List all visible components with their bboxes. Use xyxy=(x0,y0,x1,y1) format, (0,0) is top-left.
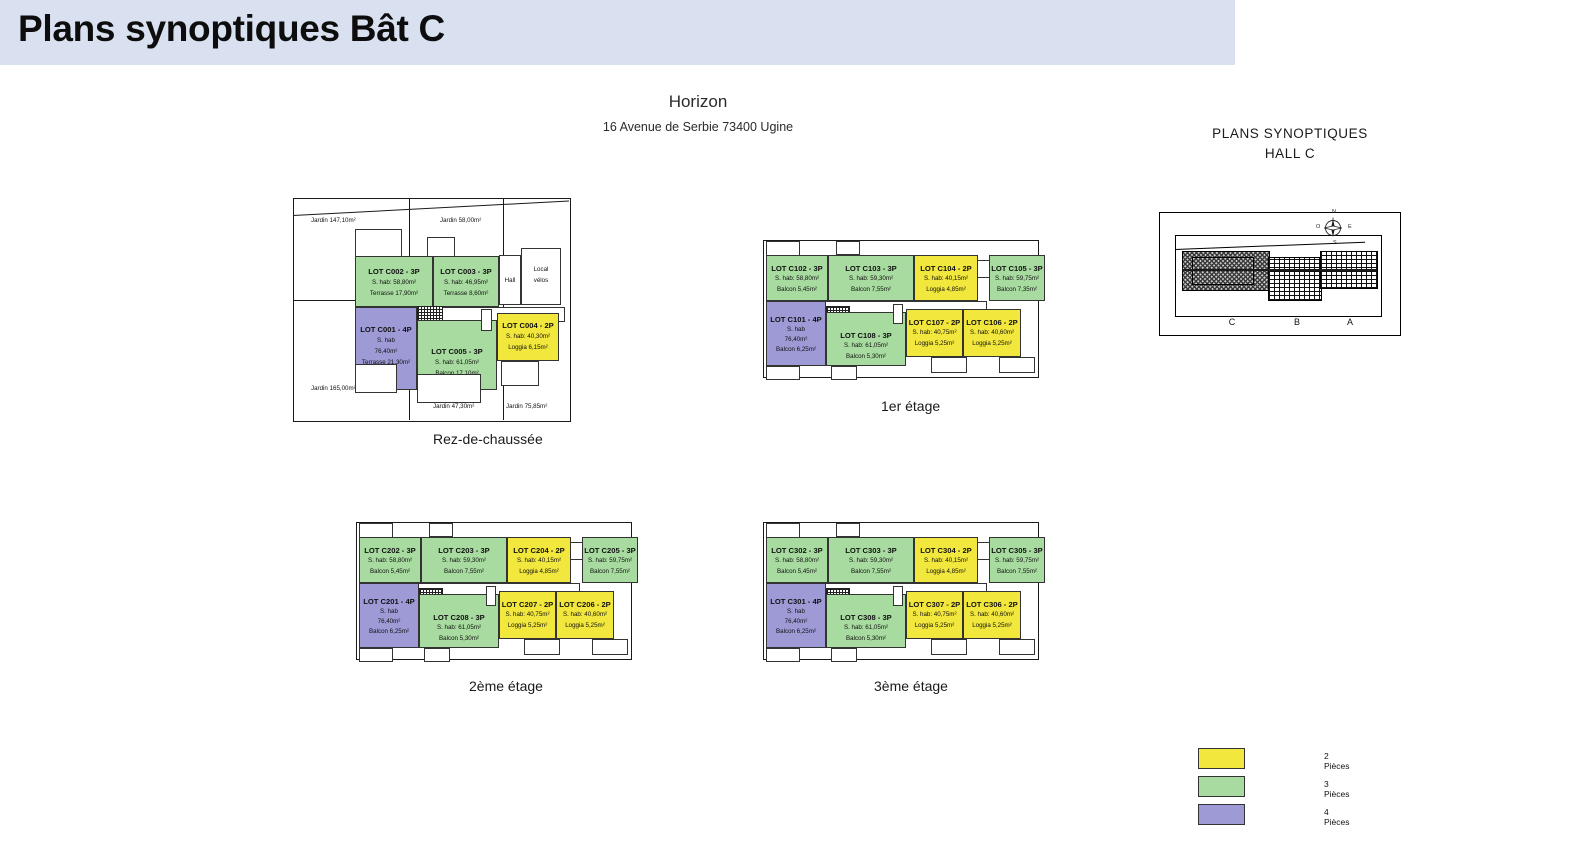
lot-c305-line1: S. hab: 59,75m² xyxy=(990,557,1044,566)
page-title: Plans synoptiques Bât C xyxy=(18,8,445,50)
lot-c004-title: LOT C004 - 2P xyxy=(498,320,558,331)
lot-c206-line1: S. hab: 40,60m² xyxy=(557,611,613,620)
lot-c302[interactable]: LOT C302 - 3P S. hab: 58,80m² Balcon 5,4… xyxy=(766,537,828,583)
lot-c307-line2: Loggia 5,25m² xyxy=(907,622,962,631)
site-key-plan: C B A N E S O xyxy=(1159,212,1401,336)
lot-c003-line1: S. hab: 46,95m² xyxy=(434,279,498,288)
lot-c004-line1: S. hab: 40,30m² xyxy=(498,333,558,342)
balcony-c103 xyxy=(836,241,860,255)
shaft-first xyxy=(893,304,903,324)
balcony-c308-lower xyxy=(831,648,857,662)
lot-c105-line1: S. hab: 59,75m² xyxy=(990,275,1044,284)
lot-c202-line2: Balcon 5,45m² xyxy=(360,568,420,577)
lot-c206-line2: Loggia 5,25m² xyxy=(557,622,613,631)
lot-c202-title: LOT C202 - 3P xyxy=(360,545,420,556)
lot-c201-line3: Balcon 6,25m² xyxy=(360,628,418,637)
site-block-b xyxy=(1268,257,1322,301)
lot-c308-line2: Balcon 5,30m² xyxy=(827,635,905,644)
lot-c207[interactable]: LOT C207 - 2P S. hab: 40,75m² Loggia 5,2… xyxy=(499,591,556,639)
lot-c105[interactable]: LOT C105 - 3P S. hab: 59,75m² Balcon 7,3… xyxy=(989,255,1045,301)
lot-c107[interactable]: LOT C107 - 2P S. hab: 40,75m² Loggia 5,2… xyxy=(906,309,963,357)
terrace-box-c001 xyxy=(355,364,397,393)
balcony-c106-lower xyxy=(999,357,1035,373)
lot-c301-line1: S. hab xyxy=(767,608,825,617)
lot-c101-line2: 76,40m² xyxy=(767,336,825,345)
lot-c204[interactable]: LOT C204 - 2P S. hab: 40,15m² Loggia 4,8… xyxy=(507,537,571,583)
lot-c005-title: LOT C005 - 3P xyxy=(418,346,496,357)
lot-c004[interactable]: LOT C004 - 2P S. hab: 40,30m² Loggia 6,1… xyxy=(497,313,559,361)
lot-c207-line2: Loggia 5,25m² xyxy=(500,622,555,631)
lot-c203-line1: S. hab: 59,30m² xyxy=(422,557,506,566)
lot-c306-line1: S. hab: 40,60m² xyxy=(964,611,1020,620)
lot-c107-line2: Loggia 5,25m² xyxy=(907,340,962,349)
lot-c202-line1: S. hab: 58,80m² xyxy=(360,557,420,566)
lot-c106-line1: S. hab: 40,60m² xyxy=(964,329,1020,338)
lot-c103-line2: Balcon 7,55m² xyxy=(829,286,913,295)
garden-label-165: Jardin 165,00m² xyxy=(311,385,356,392)
lot-c304-line2: Loggia 4,85m² xyxy=(915,568,977,577)
site-label-b: B xyxy=(1282,317,1312,327)
balcony-c208-lower xyxy=(424,648,450,662)
lot-c103-line1: S. hab: 59,30m² xyxy=(829,275,913,284)
site-block-c-wing xyxy=(1192,257,1254,285)
lot-c308-line1: S. hab: 61,05m² xyxy=(827,624,905,633)
terrace-box-c004 xyxy=(501,361,539,386)
floor-caption-ground: Rez-de-chaussée xyxy=(433,431,543,447)
lot-c002[interactable]: LOT C002 - 3P S. hab: 58,80m² Terrasse 1… xyxy=(355,256,433,307)
room-hall[interactable]: Hall xyxy=(499,255,521,305)
lot-c208-line1: S. hab: 61,05m² xyxy=(420,624,498,633)
lot-c205-line2: Balcon 7,55m² xyxy=(583,568,637,577)
lot-c204-line2: Loggia 4,85m² xyxy=(508,568,570,577)
garden-label-75: Jardin 75,85m² xyxy=(506,403,547,410)
lot-c104[interactable]: LOT C104 - 2P S. hab: 40,15m² Loggia 4,8… xyxy=(914,255,978,301)
lot-c301[interactable]: LOT C301 - 4P S. hab 76,40m² Balcon 6,25… xyxy=(766,583,826,648)
compass-label-n: N xyxy=(1332,209,1336,215)
lot-c102-line2: Balcon 5,45m² xyxy=(767,286,827,295)
lot-c307[interactable]: LOT C307 - 2P S. hab: 40,75m² Loggia 5,2… xyxy=(906,591,963,639)
lot-c103[interactable]: LOT C103 - 3P S. hab: 59,30m² Balcon 7,5… xyxy=(828,255,914,301)
lot-c307-line1: S. hab: 40,75m² xyxy=(907,611,962,620)
lot-c303-title: LOT C303 - 3P xyxy=(829,545,913,556)
lot-c203[interactable]: LOT C203 - 3P S. hab: 59,30m² Balcon 7,5… xyxy=(421,537,507,583)
lot-c302-title: LOT C302 - 3P xyxy=(767,545,827,556)
balcony-c107-lower xyxy=(931,357,967,373)
legend-label-2p: 2 Pièces xyxy=(1324,751,1350,771)
lot-c104-line1: S. hab: 40,15m² xyxy=(915,275,977,284)
lot-c302-line2: Balcon 5,45m² xyxy=(767,568,827,577)
lot-c201-line1: S. hab xyxy=(360,608,418,617)
site-spine xyxy=(1182,269,1376,271)
lot-c206[interactable]: LOT C206 - 2P S. hab: 40,60m² Loggia 5,2… xyxy=(556,591,614,639)
lot-c201-line2: 76,40m² xyxy=(360,618,418,627)
lot-c301-title: LOT C301 - 4P xyxy=(767,596,825,607)
lot-c104-line2: Loggia 4,85m² xyxy=(915,286,977,295)
lot-c003[interactable]: LOT C003 - 3P S. hab: 46,95m² Terrasse 8… xyxy=(433,256,499,307)
lot-c108-line2: Balcon 5,30m² xyxy=(827,353,905,362)
balcony-c206-lower xyxy=(592,639,628,655)
balcony-c307-lower xyxy=(931,639,967,655)
lot-c005-line1: S. hab: 61,05m² xyxy=(418,359,496,368)
lot-c206-title: LOT C206 - 2P xyxy=(557,599,613,610)
lot-c205-title: LOT C205 - 3P xyxy=(583,545,637,556)
room-local-velos-label: Local xyxy=(522,266,560,275)
lot-c303-line1: S. hab: 59,30m² xyxy=(829,557,913,566)
shaft-second xyxy=(486,586,496,606)
lot-c304-line1: S. hab: 40,15m² xyxy=(915,557,977,566)
floor-caption-second: 2ème étage xyxy=(469,678,543,694)
lot-c307-title: LOT C307 - 2P xyxy=(907,599,962,610)
balcony-c101-lower xyxy=(766,366,800,380)
lot-c304[interactable]: LOT C304 - 2P S. hab: 40,15m² Loggia 4,8… xyxy=(914,537,978,583)
floor-plan-second: LOT C202 - 3P S. hab: 58,80m² Balcon 5,4… xyxy=(356,520,634,670)
lot-c203-line2: Balcon 7,55m² xyxy=(422,568,506,577)
floor-plan-ground: Jardin 147,10m² Jardin 58,00m² Jardin 16… xyxy=(293,193,573,421)
compass-label-s: S xyxy=(1333,240,1337,246)
site-key-title-line1: PLANS SYNOPTIQUES xyxy=(1190,124,1390,144)
lot-c102-line1: S. hab: 58,80m² xyxy=(767,275,827,284)
lot-c004-line2: Loggia 6,15m² xyxy=(498,344,558,353)
site-key-title: PLANS SYNOPTIQUES HALL C xyxy=(1190,124,1390,163)
lot-c106-line2: Loggia 5,25m² xyxy=(964,340,1020,349)
lot-c102[interactable]: LOT C102 - 3P S. hab: 58,80m² Balcon 5,4… xyxy=(766,255,828,301)
lot-c105-title: LOT C105 - 3P xyxy=(990,263,1044,274)
lot-c301-line3: Balcon 6,25m² xyxy=(767,628,825,637)
lot-c003-line2: Terrasse 8,60m² xyxy=(434,290,498,299)
lot-c204-title: LOT C204 - 2P xyxy=(508,545,570,556)
lot-c306-title: LOT C306 - 2P xyxy=(964,599,1020,610)
lot-c208-line2: Balcon 5,30m² xyxy=(420,635,498,644)
lot-c204-line1: S. hab: 40,15m² xyxy=(508,557,570,566)
lot-c301-line2: 76,40m² xyxy=(767,618,825,627)
lot-c108-title: LOT C108 - 3P xyxy=(827,330,905,341)
lot-c201-title: LOT C201 - 4P xyxy=(360,596,418,607)
legend-label-3p: 3 Pièces xyxy=(1324,779,1350,799)
balcony-c203 xyxy=(429,523,453,537)
lot-c107-title: LOT C107 - 2P xyxy=(907,317,962,328)
lot-c101-title: LOT C101 - 4P xyxy=(767,314,825,325)
balcony-c306-lower xyxy=(999,639,1035,655)
lot-c105-line2: Balcon 7,35m² xyxy=(990,286,1044,295)
legend-label-4p: 4 Pièces xyxy=(1324,807,1350,827)
legend-swatch-2p xyxy=(1198,748,1245,769)
lot-c002-line1: S. hab: 58,80m² xyxy=(356,279,432,288)
balcony-c201-lower xyxy=(359,648,393,662)
project-name: Horizon xyxy=(598,92,798,112)
floor-plan-third: LOT C302 - 3P S. hab: 58,80m² Balcon 5,4… xyxy=(763,520,1041,670)
floor-plan-first: LOT C102 - 3P S. hab: 58,80m² Balcon 5,4… xyxy=(763,238,1041,388)
legend-swatch-3p xyxy=(1198,776,1245,797)
compass-rose-icon xyxy=(1320,215,1346,241)
lot-c002-line2: Terrasse 17,90m² xyxy=(356,290,432,299)
parcel-divider-3 xyxy=(293,300,355,301)
site-key-title-line2: HALL C xyxy=(1190,144,1390,164)
lot-c107-line1: S. hab: 40,75m² xyxy=(907,329,962,338)
project-address: 16 Avenue de Serbie 73400 Ugine xyxy=(548,120,848,134)
garden-label-58: Jardin 58,00m² xyxy=(440,217,481,224)
lot-c101-line1: S. hab xyxy=(767,326,825,335)
terrace-box-c002 xyxy=(355,229,402,259)
lot-c202[interactable]: LOT C202 - 3P S. hab: 58,80m² Balcon 5,4… xyxy=(359,537,421,583)
room-hall-label: Hall xyxy=(500,277,520,286)
balcony-c303 xyxy=(836,523,860,537)
lot-c205-line1: S. hab: 59,75m² xyxy=(583,557,637,566)
lot-c306[interactable]: LOT C306 - 2P S. hab: 40,60m² Loggia 5,2… xyxy=(963,591,1021,639)
lot-c001-title: LOT C001 - 4P xyxy=(356,324,416,335)
lot-c303-line2: Balcon 7,55m² xyxy=(829,568,913,577)
site-label-c: C xyxy=(1217,317,1247,327)
lot-c304-title: LOT C304 - 2P xyxy=(915,545,977,556)
lot-c103-title: LOT C103 - 3P xyxy=(829,263,913,274)
balcony-c207-lower xyxy=(524,639,560,655)
lot-c305[interactable]: LOT C305 - 3P S. hab: 59,75m² Balcon 7,5… xyxy=(989,537,1045,583)
lot-c108-line1: S. hab: 61,05m² xyxy=(827,342,905,351)
lot-c205[interactable]: LOT C205 - 3P S. hab: 59,75m² Balcon 7,5… xyxy=(582,537,638,583)
garden-label-47: Jardin 47,30m² xyxy=(433,403,474,410)
balcony-c108-lower xyxy=(831,366,857,380)
lot-c305-title: LOT C305 - 3P xyxy=(990,545,1044,556)
lot-c305-line2: Balcon 7,55m² xyxy=(990,568,1044,577)
floor-caption-first: 1er étage xyxy=(881,398,940,414)
lot-c001-line1: S. hab xyxy=(356,337,416,346)
site-label-a: A xyxy=(1335,317,1365,327)
lot-c106[interactable]: LOT C106 - 2P S. hab: 40,60m² Loggia 5,2… xyxy=(963,309,1021,357)
lot-c306-line2: Loggia 5,25m² xyxy=(964,622,1020,631)
lot-c308-title: LOT C308 - 3P xyxy=(827,612,905,623)
compass-label-o: O xyxy=(1316,224,1320,230)
floor-caption-third: 3ème étage xyxy=(874,678,948,694)
lot-c102-title: LOT C102 - 3P xyxy=(767,263,827,274)
lot-c207-line1: S. hab: 40,75m² xyxy=(500,611,555,620)
lot-c203-title: LOT C203 - 3P xyxy=(422,545,506,556)
garden-label-147: Jardin 147,10m² xyxy=(311,217,356,224)
lot-c101-line3: Balcon 6,25m² xyxy=(767,346,825,355)
compass-label-e: E xyxy=(1348,224,1352,230)
lot-c208-title: LOT C208 - 3P xyxy=(420,612,498,623)
shaft-third xyxy=(893,586,903,606)
lot-c001-line2: 76,40m² xyxy=(356,348,416,357)
room-local-velos[interactable]: Local vélos xyxy=(521,248,561,305)
lot-c303[interactable]: LOT C303 - 3P S. hab: 59,30m² Balcon 7,5… xyxy=(828,537,914,583)
lot-c101[interactable]: LOT C101 - 4P S. hab 76,40m² Balcon 6,25… xyxy=(766,301,826,366)
room-local-velos-label2: vélos xyxy=(522,277,560,286)
lot-c207-title: LOT C207 - 2P xyxy=(500,599,555,610)
lot-c104-title: LOT C104 - 2P xyxy=(915,263,977,274)
lot-c302-line1: S. hab: 58,80m² xyxy=(767,557,827,566)
legend-swatch-4p xyxy=(1198,804,1245,825)
lot-c106-title: LOT C106 - 2P xyxy=(964,317,1020,328)
terrace-box-c005 xyxy=(417,374,481,403)
shaft-ground xyxy=(481,309,492,331)
lot-c003-title: LOT C003 - 3P xyxy=(434,266,498,277)
balcony-c301-lower xyxy=(766,648,800,662)
lot-c201[interactable]: LOT C201 - 4P S. hab 76,40m² Balcon 6,25… xyxy=(359,583,419,648)
lot-c002-title: LOT C002 - 3P xyxy=(356,266,432,277)
